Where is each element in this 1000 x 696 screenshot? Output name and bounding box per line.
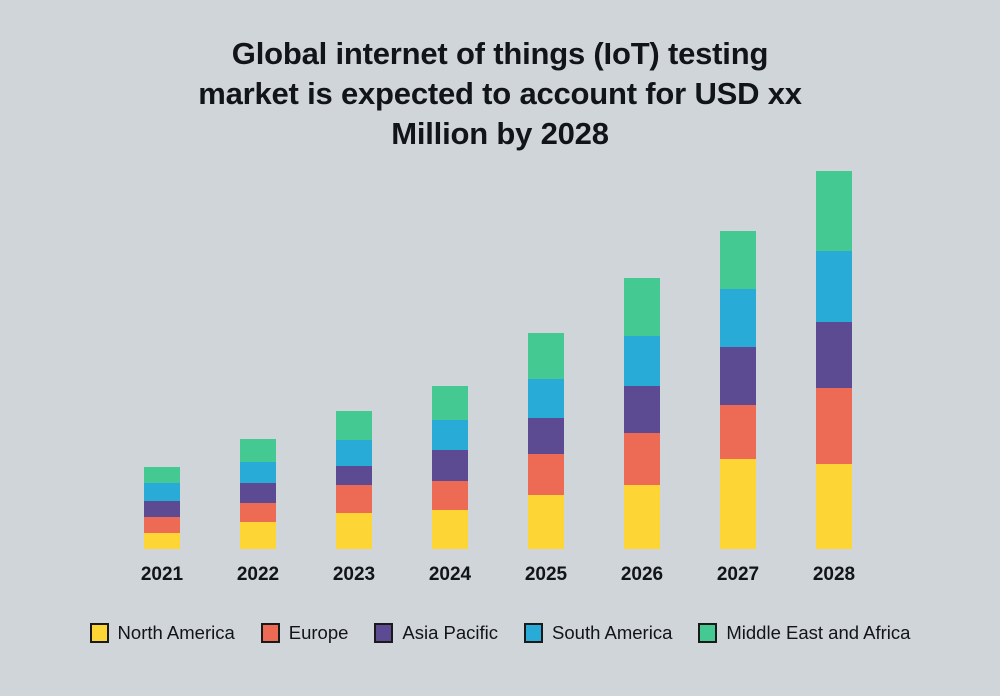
x-axis-tick-2021: 2021 <box>107 564 217 586</box>
bar-segment[interactable] <box>240 503 276 522</box>
bar-segment[interactable] <box>528 418 564 454</box>
bar-segment[interactable] <box>624 336 660 386</box>
bar-group <box>144 0 180 549</box>
bar-segment[interactable] <box>624 485 660 549</box>
x-axis-tick-2025: 2025 <box>491 564 601 586</box>
bar-stack <box>432 386 468 549</box>
bar-segment[interactable] <box>240 439 276 462</box>
bar-segment[interactable] <box>720 405 756 459</box>
bar-stack <box>816 171 852 549</box>
legend-swatch-icon <box>261 623 280 643</box>
x-axis-tick-2028: 2028 <box>779 564 889 586</box>
bar-segment[interactable] <box>816 251 852 322</box>
bar-group <box>336 0 372 549</box>
bar-segment[interactable] <box>528 454 564 495</box>
bar-group <box>240 0 276 549</box>
legend-swatch-icon <box>374 623 393 643</box>
bar-segment[interactable] <box>336 411 372 440</box>
chart-container: Global internet of things (IoT) testing … <box>0 0 1000 696</box>
bar-segment[interactable] <box>240 462 276 483</box>
bar-segment[interactable] <box>336 466 372 485</box>
bar-stack <box>624 278 660 549</box>
bar-segment[interactable] <box>720 459 756 549</box>
bar-stack <box>720 231 756 549</box>
bar-stack <box>144 467 180 549</box>
bar-segment[interactable] <box>624 278 660 336</box>
legend-label: South America <box>552 622 672 644</box>
bar-group <box>528 0 564 549</box>
bar-segment[interactable] <box>720 347 756 405</box>
legend-item[interactable]: Asia Pacific <box>374 622 498 644</box>
bar-segment[interactable] <box>432 481 468 510</box>
bar-segment[interactable] <box>528 333 564 379</box>
plot-area <box>0 0 1000 560</box>
legend-swatch-icon <box>698 623 717 643</box>
bar-segment[interactable] <box>432 450 468 481</box>
bar-segment[interactable] <box>816 171 852 251</box>
bar-segment[interactable] <box>240 483 276 503</box>
bar-segment[interactable] <box>240 522 276 549</box>
bar-segment[interactable] <box>528 379 564 418</box>
bar-group <box>720 0 756 549</box>
bar-segment[interactable] <box>144 501 180 517</box>
bar-segment[interactable] <box>144 483 180 501</box>
x-axis-labels: 20212022202320242025202620272028 <box>0 560 1000 596</box>
bar-segment[interactable] <box>336 513 372 549</box>
legend-label: Middle East and Africa <box>726 622 910 644</box>
bar-segment[interactable] <box>624 386 660 433</box>
legend-label: North America <box>118 622 235 644</box>
bar-segment[interactable] <box>816 464 852 549</box>
bar-segment[interactable] <box>144 533 180 549</box>
x-axis-tick-2024: 2024 <box>395 564 505 586</box>
bar-group <box>432 0 468 549</box>
legend-swatch-icon <box>90 623 109 643</box>
bar-group <box>624 0 660 549</box>
bar-segment[interactable] <box>624 433 660 485</box>
bar-segment[interactable] <box>720 289 756 347</box>
bar-stack <box>336 411 372 549</box>
legend-item[interactable]: Middle East and Africa <box>698 622 910 644</box>
bar-segment[interactable] <box>816 322 852 388</box>
bar-segment[interactable] <box>432 420 468 450</box>
bar-stack <box>528 333 564 549</box>
chart-legend: North AmericaEuropeAsia PacificSouth Ame… <box>0 622 1000 644</box>
bar-segment[interactable] <box>816 388 852 464</box>
x-axis-tick-2023: 2023 <box>299 564 409 586</box>
bar-segment[interactable] <box>336 440 372 466</box>
legend-label: Asia Pacific <box>402 622 498 644</box>
bar-segment[interactable] <box>144 517 180 533</box>
legend-swatch-icon <box>524 623 543 643</box>
x-axis-tick-2022: 2022 <box>203 564 313 586</box>
bar-segment[interactable] <box>528 495 564 549</box>
legend-item[interactable]: Europe <box>261 622 349 644</box>
x-axis-tick-2026: 2026 <box>587 564 697 586</box>
legend-label: Europe <box>289 622 349 644</box>
bar-group <box>816 0 852 549</box>
bar-segment[interactable] <box>432 386 468 420</box>
bar-segment[interactable] <box>336 485 372 513</box>
legend-item[interactable]: North America <box>90 622 235 644</box>
x-axis-tick-2027: 2027 <box>683 564 793 586</box>
bar-segment[interactable] <box>144 467 180 483</box>
bar-segment[interactable] <box>720 231 756 289</box>
bar-segment[interactable] <box>432 510 468 549</box>
bar-stack <box>240 439 276 549</box>
legend-item[interactable]: South America <box>524 622 672 644</box>
